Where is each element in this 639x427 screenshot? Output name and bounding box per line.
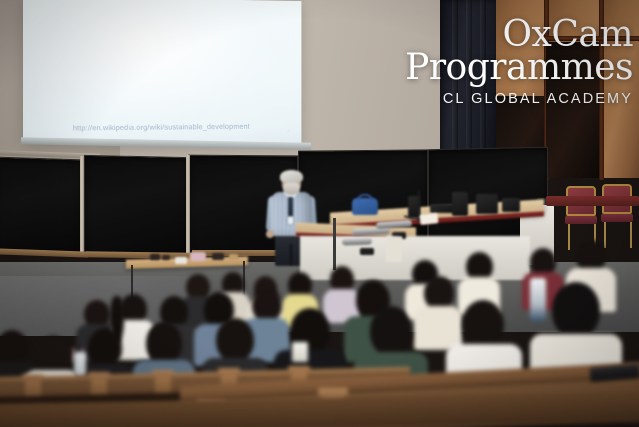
chair-leg: [604, 222, 606, 248]
bench-label-card: [360, 248, 374, 255]
presenter-hand: [266, 230, 274, 238]
branding-overlay: OxCam Programmes CL GLOBAL ACADEMY: [405, 18, 633, 107]
blackboard-panel-2: [84, 155, 188, 259]
demo-object-dark-1: [150, 254, 160, 260]
demo-cylinder-3: [342, 237, 372, 245]
demo-object-tan: [229, 254, 238, 260]
chair-seat: [601, 214, 633, 222]
person-head: [424, 276, 454, 310]
blackboard-divider-2: [186, 155, 190, 255]
chair-leg: [568, 224, 570, 250]
presenter-beard: [283, 183, 300, 195]
equipment-box-6: [502, 198, 520, 212]
demo-table-leg: [243, 261, 245, 295]
chair-seat: [565, 216, 597, 224]
equipment-box-5: [476, 194, 498, 214]
projection-screen: http://en.wikipedia.org/wiki/sustainable…: [23, 0, 301, 147]
person-head: [0, 330, 28, 366]
presenter-hair: [280, 170, 303, 183]
person-head: [462, 300, 504, 348]
person-head: [252, 288, 282, 322]
person-head: [552, 282, 600, 338]
presenter-name-badge: [287, 216, 294, 225]
blue-bag-strap: [357, 194, 373, 201]
person-head: [370, 306, 412, 356]
blackboard-divider-1: [80, 156, 84, 256]
demo-object-paper: [175, 257, 187, 264]
demo-object-pink: [190, 252, 206, 261]
demo-object-dark-2: [162, 255, 170, 260]
lecture-hall-photo: http://en.wikipedia.org/wiki/sustainable…: [0, 0, 639, 427]
demo-object-dark-3: [212, 253, 224, 260]
lecture-bench-leg: [333, 218, 336, 270]
person-head: [88, 328, 122, 368]
paper-sheet-bench: [420, 213, 439, 225]
slide-page-number: 7: [287, 129, 290, 135]
overlay-title-line2: Programmes: [405, 51, 633, 86]
chair-leg: [630, 222, 632, 248]
person-head: [216, 318, 254, 362]
slide-url-text: http://en.wikipedia.org/wiki/sustainable…: [73, 122, 250, 133]
person-head: [36, 336, 70, 374]
water-bottle-right: [530, 278, 546, 322]
person-head: [146, 322, 182, 364]
paper-sheet-hanging: [385, 236, 402, 263]
blackboard-panel-1: [0, 157, 82, 256]
cup-center: [292, 342, 308, 362]
table-strip-right: [546, 196, 639, 206]
overlay-subtitle: CL GLOBAL ACADEMY: [405, 91, 633, 107]
equipment-box-4: [452, 192, 468, 216]
presenter-leg-split: [290, 244, 292, 266]
